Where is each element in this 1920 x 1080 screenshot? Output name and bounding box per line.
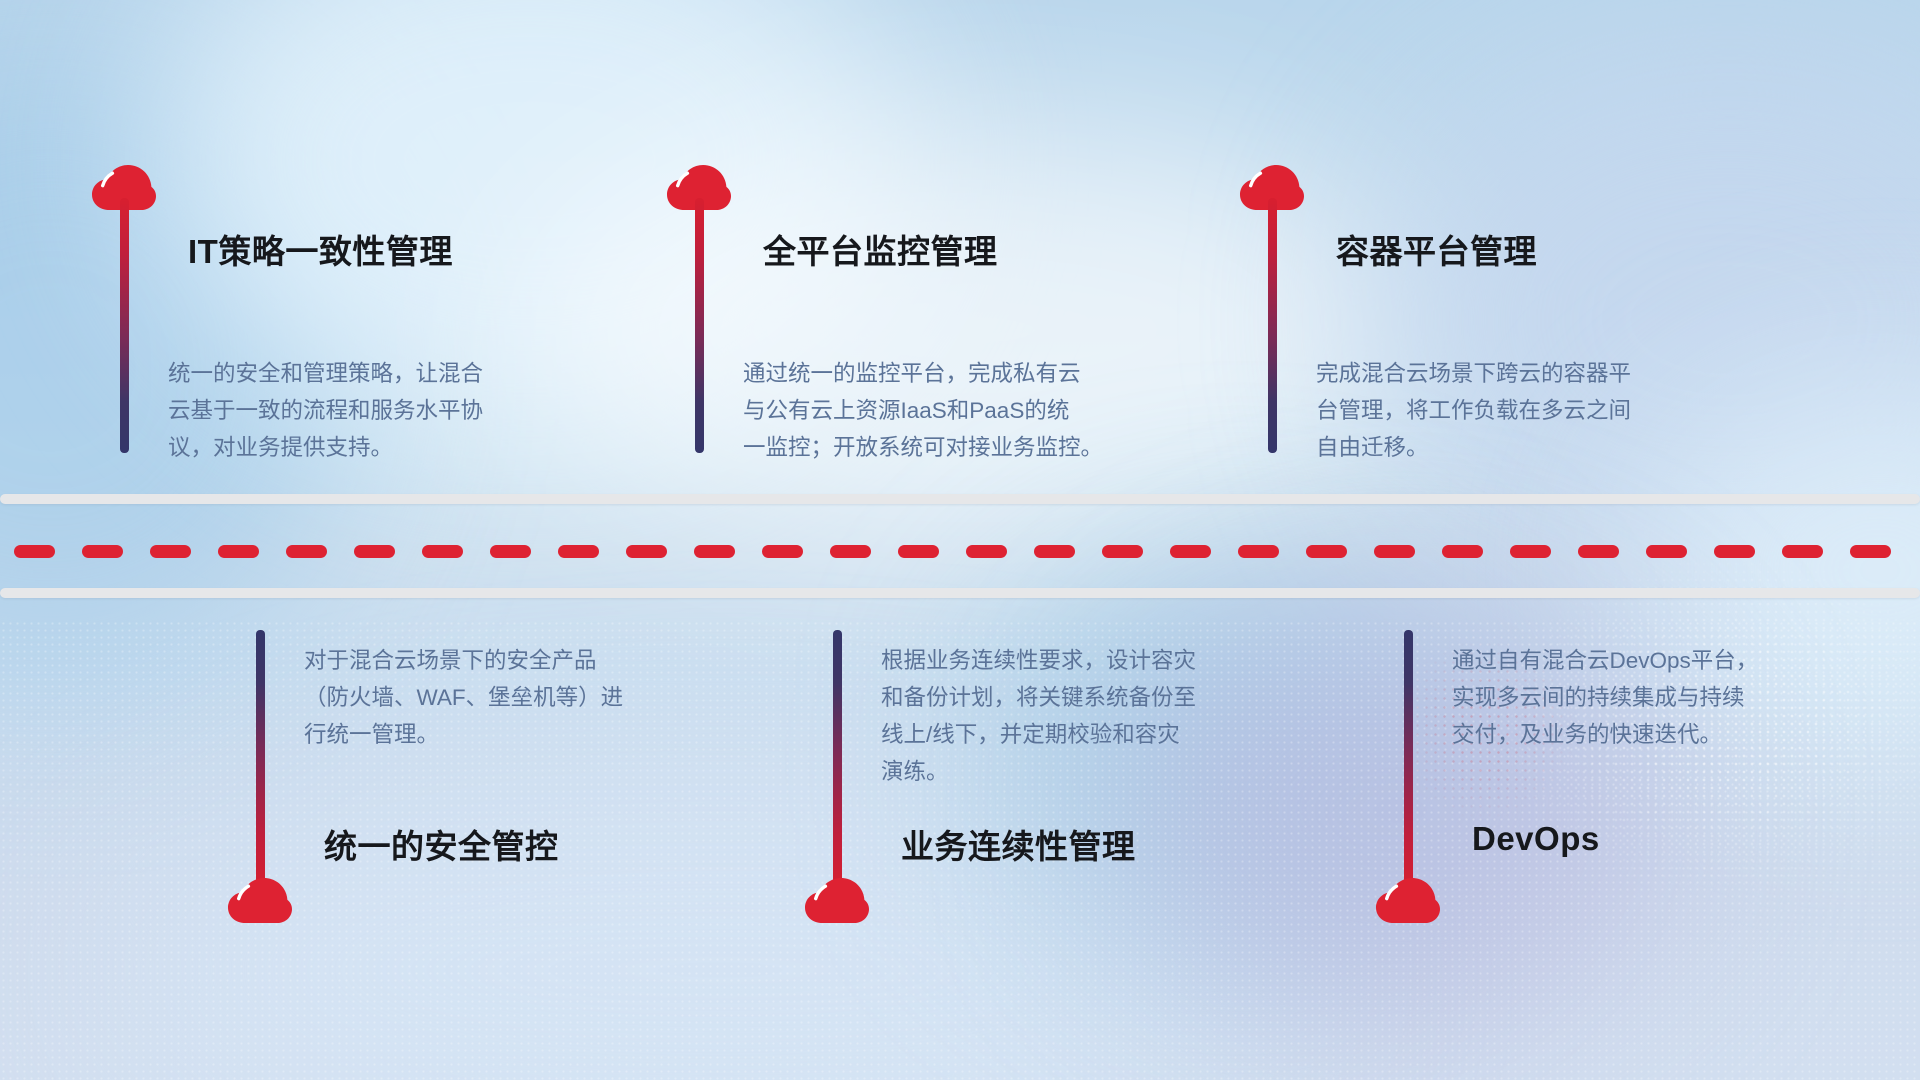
description-line: 议，对业务提供支持。 bbox=[168, 429, 498, 466]
description-line: 通过统一的监控平台，完成私有云 bbox=[743, 355, 1093, 392]
divider-dash bbox=[1646, 545, 1687, 558]
card-title: 容器平台管理 bbox=[1336, 225, 1537, 273]
description-line: 实现多云间的持续集成与持续 bbox=[1452, 679, 1782, 716]
card-description: 通过自有混合云DevOps平台， 实现多云间的持续集成与持续 交付，及业务的快速… bbox=[1452, 642, 1782, 753]
divider-rail-bottom bbox=[0, 588, 1920, 598]
divider-dash bbox=[1578, 545, 1619, 558]
card-title: DevOps bbox=[1472, 820, 1600, 858]
cloud-icon bbox=[228, 878, 292, 924]
card-description: 对于混合云场景下的安全产品 （防火墙、WAF、堡垒机等）进 行统一管理。 bbox=[304, 642, 634, 753]
divider-dash bbox=[14, 545, 55, 558]
divider-dash bbox=[490, 545, 531, 558]
divider-dash bbox=[830, 545, 871, 558]
divider-dash bbox=[1170, 545, 1211, 558]
divider-dash bbox=[694, 545, 735, 558]
card-title: 全平台监控管理 bbox=[763, 225, 998, 273]
divider-dash bbox=[1034, 545, 1075, 558]
divider-dash bbox=[898, 545, 939, 558]
card-stem bbox=[256, 630, 265, 892]
description-line: 行统一管理。 bbox=[304, 716, 634, 753]
divider-dash bbox=[150, 545, 191, 558]
description-line: 与公有云上资源IaaS和PaaS的统 bbox=[743, 392, 1093, 429]
card-description: 统一的安全和管理策略，让混合 云基于一致的流程和服务水平协 议，对业务提供支持。 bbox=[168, 355, 498, 466]
divider-rail-top bbox=[0, 494, 1920, 504]
cloud-icon bbox=[1376, 878, 1440, 924]
description-line: 台管理，将工作负载在多云之间 bbox=[1316, 392, 1646, 429]
description-line: 和备份计划，将关键系统备份至 bbox=[881, 679, 1211, 716]
divider-dash bbox=[626, 545, 667, 558]
card-stem bbox=[120, 198, 129, 453]
description-line: 统一的安全和管理策略，让混合 bbox=[168, 355, 498, 392]
card-stem bbox=[1404, 630, 1413, 892]
description-line: 交付，及业务的快速迭代。 bbox=[1452, 716, 1782, 753]
divider-dash bbox=[558, 545, 599, 558]
divider-dash bbox=[762, 545, 803, 558]
description-line: 演练。 bbox=[881, 753, 1211, 790]
divider-dash bbox=[1442, 545, 1483, 558]
divider-dash bbox=[1714, 545, 1755, 558]
divider-dash bbox=[1782, 545, 1823, 558]
divider-dashed-line bbox=[0, 544, 1920, 558]
description-line: （防火墙、WAF、堡垒机等）进 bbox=[304, 679, 634, 716]
divider-dash bbox=[1238, 545, 1279, 558]
card-description: 完成混合云场景下跨云的容器平 台管理，将工作负载在多云之间 自由迁移。 bbox=[1316, 355, 1646, 466]
divider-dash bbox=[1102, 545, 1143, 558]
divider-dash bbox=[1850, 545, 1891, 558]
card-description: 根据业务连续性要求，设计容灾 和备份计划，将关键系统备份至 线上/线下，并定期校… bbox=[881, 642, 1211, 790]
description-line: 一监控；开放系统可对接业务监控。 bbox=[743, 429, 1093, 466]
divider-dash bbox=[354, 545, 395, 558]
card-description: 通过统一的监控平台，完成私有云 与公有云上资源IaaS和PaaS的统 一监控；开… bbox=[743, 355, 1093, 466]
card-title: 业务连续性管理 bbox=[901, 820, 1136, 868]
divider-dash bbox=[1510, 545, 1551, 558]
cloud-icon bbox=[805, 878, 869, 924]
card-title: 统一的安全管控 bbox=[324, 820, 559, 868]
description-line: 线上/线下，并定期校验和容灾 bbox=[881, 716, 1211, 753]
infographic-canvas: IT策略一致性管理 统一的安全和管理策略，让混合 云基于一致的流程和服务水平协 … bbox=[0, 0, 1920, 1080]
description-line: 通过自有混合云DevOps平台， bbox=[1452, 642, 1782, 679]
divider-dash bbox=[82, 545, 123, 558]
description-line: 完成混合云场景下跨云的容器平 bbox=[1316, 355, 1646, 392]
card-title: IT策略一致性管理 bbox=[188, 225, 453, 273]
divider-dash bbox=[1306, 545, 1347, 558]
description-line: 对于混合云场景下的安全产品 bbox=[304, 642, 634, 679]
card-stem bbox=[833, 630, 842, 892]
description-line: 根据业务连续性要求，设计容灾 bbox=[881, 642, 1211, 679]
divider-dash bbox=[218, 545, 259, 558]
card-stem bbox=[1268, 198, 1277, 453]
description-line: 云基于一致的流程和服务水平协 bbox=[168, 392, 498, 429]
divider-dash bbox=[966, 545, 1007, 558]
divider-dash bbox=[422, 545, 463, 558]
description-line: 自由迁移。 bbox=[1316, 429, 1646, 466]
divider-dash bbox=[1374, 545, 1415, 558]
card-stem bbox=[695, 198, 704, 453]
divider-dash bbox=[286, 545, 327, 558]
